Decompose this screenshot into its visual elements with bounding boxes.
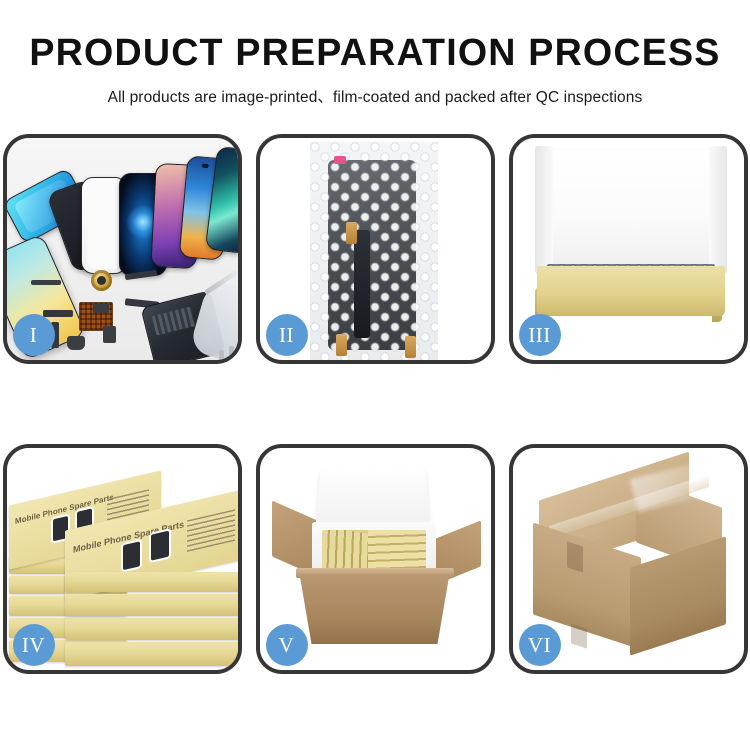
step-panel-2: II [256, 134, 495, 364]
flex-cable-part-1 [124, 270, 157, 280]
gold-tab-2 [336, 334, 347, 356]
step-badge-1: I [13, 314, 55, 356]
bubble-wrap-texture [310, 142, 438, 360]
screw-part-1 [229, 346, 234, 358]
step-badge-6: VI [519, 624, 561, 666]
carton-right-face [630, 536, 726, 655]
stacked-box-r2 [65, 618, 238, 640]
vibration-motor-part [93, 304, 109, 313]
screen-flex-cable [354, 230, 370, 338]
carton-seam-bottom [571, 623, 587, 648]
yellow-box-base [537, 266, 725, 316]
stacked-box-r1 [65, 642, 238, 666]
step-panel-1: I [3, 134, 242, 364]
step-panel-6: VI [509, 444, 748, 674]
white-foam-lid [543, 150, 719, 270]
gold-tab-3 [405, 336, 416, 358]
screw-part-2 [219, 350, 224, 360]
carton-front-face [300, 574, 450, 644]
step-panel-5: V [256, 444, 495, 674]
carton-seam-top [567, 541, 583, 572]
bubble-wrap-bag [310, 142, 438, 360]
page-subtitle: All products are image-printed、film-coat… [0, 85, 750, 107]
step-panel-3: III [509, 134, 748, 364]
page-title: PRODUCT PREPARATION PROCESS [4, 34, 747, 72]
step-panel-4: Mobile Phone Spare Parts Mobile Phone Sp… [3, 444, 242, 674]
step-badge-5: V [266, 624, 308, 666]
pink-label-sticker [334, 156, 346, 164]
camera-module-part [103, 326, 116, 343]
stacked-box-r4 [65, 572, 238, 592]
page-header: PRODUCT PREPARATION PROCESS All products… [0, 0, 750, 107]
stacked-box-r3 [65, 594, 238, 616]
step-badge-3: III [519, 314, 561, 356]
gold-tab-1 [346, 222, 357, 244]
box-thumbnail-2a [123, 541, 140, 570]
box-thumbnail-2b [151, 531, 169, 561]
process-steps-grid: I II III [0, 134, 750, 674]
wireless-coil-part [91, 270, 112, 291]
step-badge-2: II [266, 314, 308, 356]
flex-cable-part-3 [43, 310, 73, 317]
step-badge-4: IV [13, 624, 55, 666]
speaker-mesh-part [31, 280, 61, 285]
taptic-engine-part [67, 336, 85, 350]
foam-lid-open [315, 468, 430, 528]
